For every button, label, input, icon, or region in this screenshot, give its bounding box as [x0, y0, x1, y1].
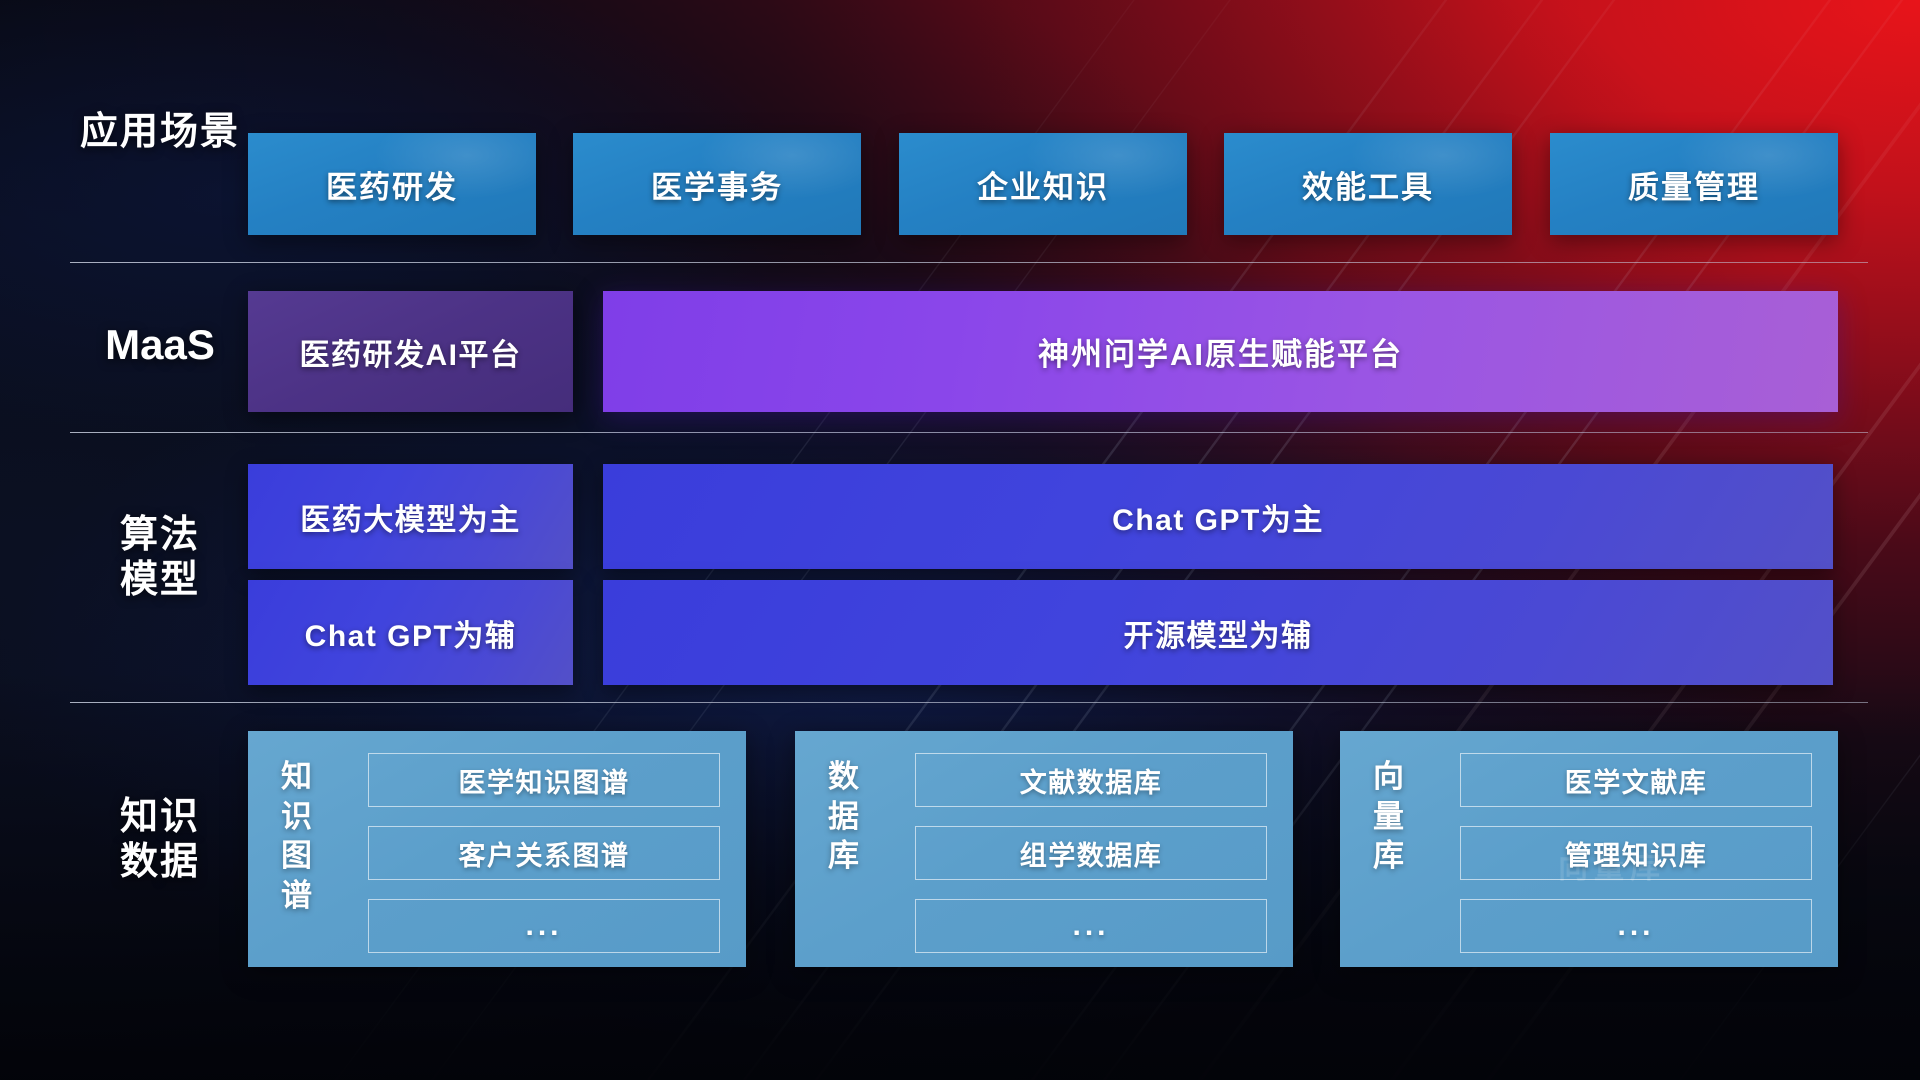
diagram-canvas: 应用场景 医药研发 医学事务 企业知识 效能工具 质量管理 MaaS 医药研发A…: [0, 0, 1920, 1080]
app-box-label: 质量管理: [1628, 162, 1760, 207]
tier-label-algorithm-line2: 模型: [75, 558, 245, 603]
knowledge-panel-title: 知识图谱: [274, 757, 320, 916]
app-box-label: 企业知识: [977, 162, 1109, 207]
app-box-label: 医学事务: [651, 162, 783, 207]
app-box-quality-management[interactable]: 质量管理: [1550, 133, 1838, 235]
algo-box-label: Chat GPT为辅: [305, 611, 517, 655]
divider-application-maas: [70, 262, 1868, 263]
knowledge-panel-title: 数据库: [821, 757, 867, 876]
maas-box-pharma-ai-platform[interactable]: 医药研发AI平台: [248, 291, 573, 412]
tier-label-knowledge-line1: 知识: [75, 795, 245, 840]
knowledge-item-more[interactable]: ...: [368, 899, 720, 953]
knowledge-panel-title: 向量库: [1366, 757, 1412, 876]
knowledge-item-more[interactable]: ...: [915, 899, 1267, 953]
knowledge-item[interactable]: 组学数据库: [915, 826, 1267, 880]
app-box-label: 医药研发: [326, 162, 458, 207]
tier-label-maas: MaaS: [75, 320, 245, 370]
divider-algorithm-knowledge: [70, 702, 1868, 703]
maas-box-shenzhou-wenxue-platform[interactable]: 神州问学AI原生赋能平台: [603, 291, 1838, 412]
app-box-efficiency-tools[interactable]: 效能工具: [1224, 133, 1512, 235]
knowledge-panel-vector-store[interactable]: 向量库 向量库 医学文献库 管理知识库 ...: [1340, 731, 1838, 967]
algo-box-label: 医药大模型为主: [300, 495, 521, 539]
knowledge-panel-knowledge-graph[interactable]: 知识图谱 医学知识图谱 客户关系图谱 ...: [248, 731, 746, 967]
knowledge-item[interactable]: 客户关系图谱: [368, 826, 720, 880]
divider-maas-algorithm: [70, 432, 1868, 433]
knowledge-panel-database[interactable]: 数据库 文献数据库 组学数据库 ...: [795, 731, 1293, 967]
tier-label-application: 应用场景: [75, 110, 245, 155]
app-box-label: 效能工具: [1302, 162, 1434, 207]
knowledge-item[interactable]: 管理知识库: [1460, 826, 1812, 880]
knowledge-item[interactable]: 文献数据库: [915, 753, 1267, 807]
maas-box-label: 神州问学AI原生赋能平台: [1038, 329, 1403, 374]
knowledge-item[interactable]: 医学知识图谱: [368, 753, 720, 807]
algo-box-opensource-secondary[interactable]: 开源模型为辅: [603, 580, 1833, 685]
maas-box-label: 医药研发AI平台: [300, 330, 522, 374]
app-box-medical-affairs[interactable]: 医学事务: [573, 133, 861, 235]
tier-label-algorithm: 算法 模型: [75, 513, 245, 603]
knowledge-item-more[interactable]: ...: [1460, 899, 1812, 953]
tier-label-algorithm-line1: 算法: [75, 513, 245, 558]
algo-box-chatgpt-primary[interactable]: Chat GPT为主: [603, 464, 1833, 569]
tier-label-knowledge: 知识 数据: [75, 795, 245, 885]
tier-label-knowledge-line2: 数据: [75, 840, 245, 885]
algo-box-label: Chat GPT为主: [1112, 495, 1324, 539]
tier-label-maas-text: MaaS: [75, 320, 245, 370]
algo-box-label: 开源模型为辅: [1124, 611, 1313, 655]
algo-box-chatgpt-secondary[interactable]: Chat GPT为辅: [248, 580, 573, 685]
knowledge-item[interactable]: 医学文献库: [1460, 753, 1812, 807]
algo-box-pharma-llm-primary[interactable]: 医药大模型为主: [248, 464, 573, 569]
app-box-enterprise-knowledge[interactable]: 企业知识: [899, 133, 1187, 235]
tier-label-application-text: 应用场景: [75, 110, 245, 155]
app-box-medicine-rd[interactable]: 医药研发: [248, 133, 536, 235]
